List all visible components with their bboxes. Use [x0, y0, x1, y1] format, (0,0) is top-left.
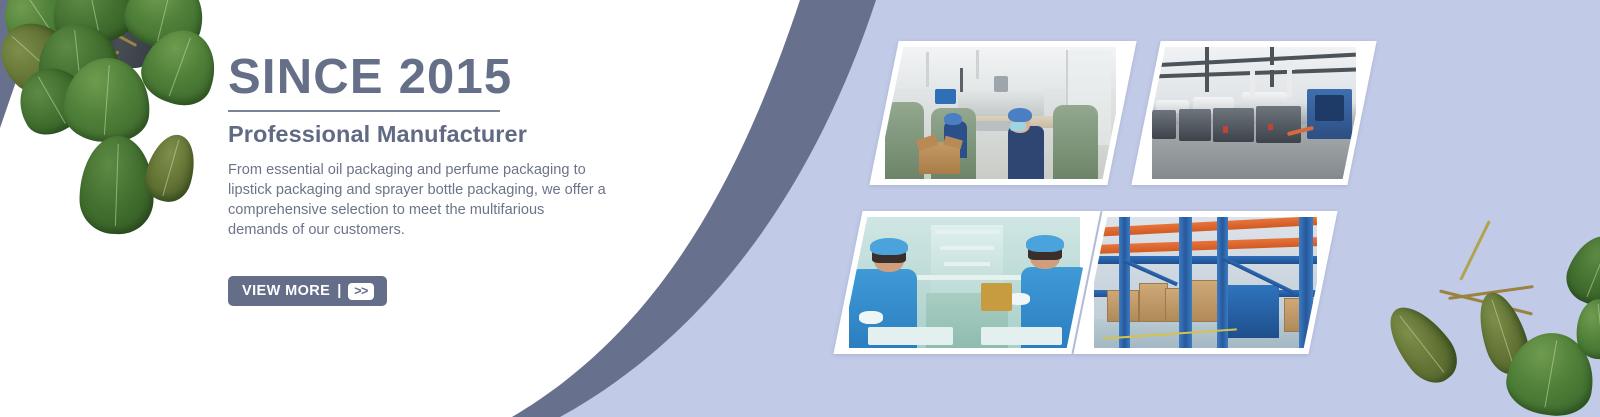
robot-rail [1242, 65, 1295, 70]
rack-post [1119, 217, 1130, 348]
view-more-button[interactable]: VIEW MORE | >> [228, 276, 387, 306]
rack-post [1299, 217, 1312, 348]
molding-machine [1213, 108, 1254, 142]
molding-hall-scene [1152, 47, 1356, 179]
plant-leaf [78, 135, 155, 236]
worker-body [1008, 126, 1044, 179]
worker-cap [1008, 108, 1033, 123]
molding-machine [1179, 109, 1212, 141]
duct [976, 50, 979, 79]
title-divider [228, 110, 500, 112]
overhead-rail [944, 262, 989, 266]
worker-glove [859, 311, 884, 324]
plant-leaf [1377, 295, 1468, 392]
workshop-scene [890, 47, 1116, 179]
promo-banner: SINCE 2015 Professional Manufacturer Fro… [0, 0, 1600, 417]
cleanroom-scene [854, 217, 1080, 348]
duct [926, 52, 929, 86]
plant-bottom-right [1380, 229, 1600, 417]
description-text: From essential oil packaging and perfume… [228, 161, 606, 240]
chevron-right-icon: >> [348, 283, 374, 300]
line-rail [899, 275, 1035, 280]
rack-post [1179, 217, 1192, 348]
worker-cap [870, 238, 908, 255]
product-tray [981, 327, 1062, 345]
page-title: SINCE 2015 [228, 52, 648, 103]
photo-frame [841, 217, 1094, 348]
product-tray [868, 327, 954, 345]
carton [1190, 280, 1219, 322]
face-mask [1010, 122, 1026, 131]
overhead-rail [935, 230, 998, 234]
stand [960, 68, 963, 92]
roof-column [1205, 47, 1209, 92]
indicator [1268, 124, 1273, 131]
gallery-photo-molding-hall[interactable] [1131, 41, 1376, 185]
overhead-rail [940, 246, 994, 250]
indicator [1223, 126, 1228, 133]
warehouse-scene [1094, 217, 1317, 348]
photo-frame [1081, 217, 1331, 348]
gallery-photo-workshop[interactable] [869, 41, 1136, 185]
molding-machine [1256, 106, 1301, 143]
machine-head [994, 76, 1008, 92]
photo-frame [877, 47, 1130, 179]
blue-unit [935, 89, 955, 104]
green-machine [1053, 105, 1098, 179]
gallery-photo-cleanroom[interactable] [833, 211, 1100, 354]
plant-stem [1459, 220, 1491, 281]
headline-block: SINCE 2015 Professional Manufacturer Fro… [228, 52, 648, 241]
view-more-label: VIEW MORE [242, 283, 330, 299]
photo-frame [1139, 47, 1370, 179]
worker-cap [1026, 235, 1064, 252]
machine-window [1315, 95, 1344, 121]
view-more-separator: | [337, 283, 341, 299]
plant-top-left [0, 0, 229, 256]
molding-machine [1152, 110, 1176, 139]
amber-panel [981, 283, 1013, 312]
subtitle: Professional Manufacturer [228, 121, 648, 148]
carton [1139, 283, 1168, 322]
worker-cap [944, 113, 962, 125]
gallery-photo-warehouse[interactable] [1073, 211, 1337, 354]
